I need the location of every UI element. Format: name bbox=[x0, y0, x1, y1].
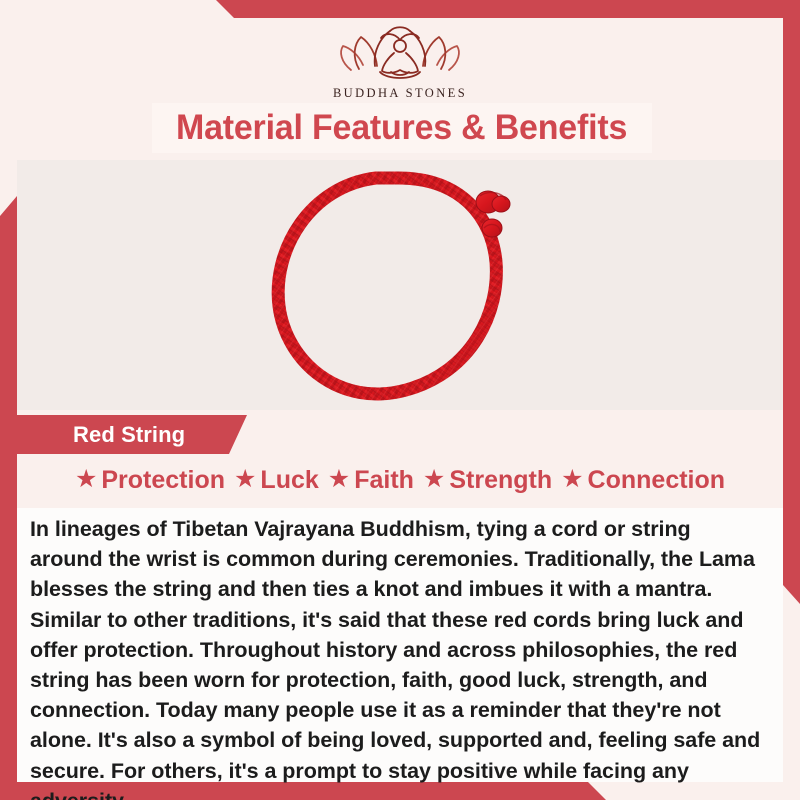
star-icon: ★ bbox=[561, 467, 583, 492]
red-string-bracelet-image bbox=[266, 166, 534, 406]
benefit-label: Connection bbox=[588, 466, 726, 495]
page-title: Material Features & Benefits bbox=[176, 108, 627, 148]
brand-logo: BUDDHA STONES bbox=[0, 22, 800, 101]
benefit-label: Luck bbox=[260, 466, 318, 495]
benefit-label: Strength bbox=[449, 466, 552, 495]
benefit-item-faith: ★ Faith bbox=[328, 466, 414, 495]
material-features-infographic: BUDDHA STONES Material Features & Benefi… bbox=[0, 0, 800, 800]
benefit-item-luck: ★ Luck bbox=[234, 466, 319, 495]
star-icon: ★ bbox=[423, 467, 445, 492]
benefit-item-connection: ★ Connection bbox=[561, 466, 725, 495]
product-hero-band bbox=[17, 160, 783, 410]
benefits-list: ★ Protection ★ Luck ★ Faith ★ Strength ★… bbox=[17, 466, 783, 495]
star-icon: ★ bbox=[234, 467, 256, 492]
lotus-meditation-icon bbox=[325, 22, 475, 84]
star-icon: ★ bbox=[328, 467, 350, 492]
description-text: In lineages of Tibetan Vajrayana Buddhis… bbox=[17, 508, 783, 800]
material-label: Red String bbox=[73, 422, 185, 448]
description-card: In lineages of Tibetan Vajrayana Buddhis… bbox=[17, 508, 783, 782]
material-label-banner: Red String bbox=[17, 415, 247, 454]
brand-name: BUDDHA STONES bbox=[0, 86, 800, 101]
benefit-label: Protection bbox=[101, 466, 225, 495]
star-icon: ★ bbox=[75, 467, 97, 492]
benefit-label: Faith bbox=[354, 466, 414, 495]
decorative-left-strip bbox=[0, 196, 17, 782]
title-plate: Material Features & Benefits bbox=[152, 103, 652, 153]
benefit-item-protection: ★ Protection bbox=[75, 466, 225, 495]
decorative-top-band bbox=[0, 0, 800, 18]
benefit-item-strength: ★ Strength bbox=[423, 466, 552, 495]
